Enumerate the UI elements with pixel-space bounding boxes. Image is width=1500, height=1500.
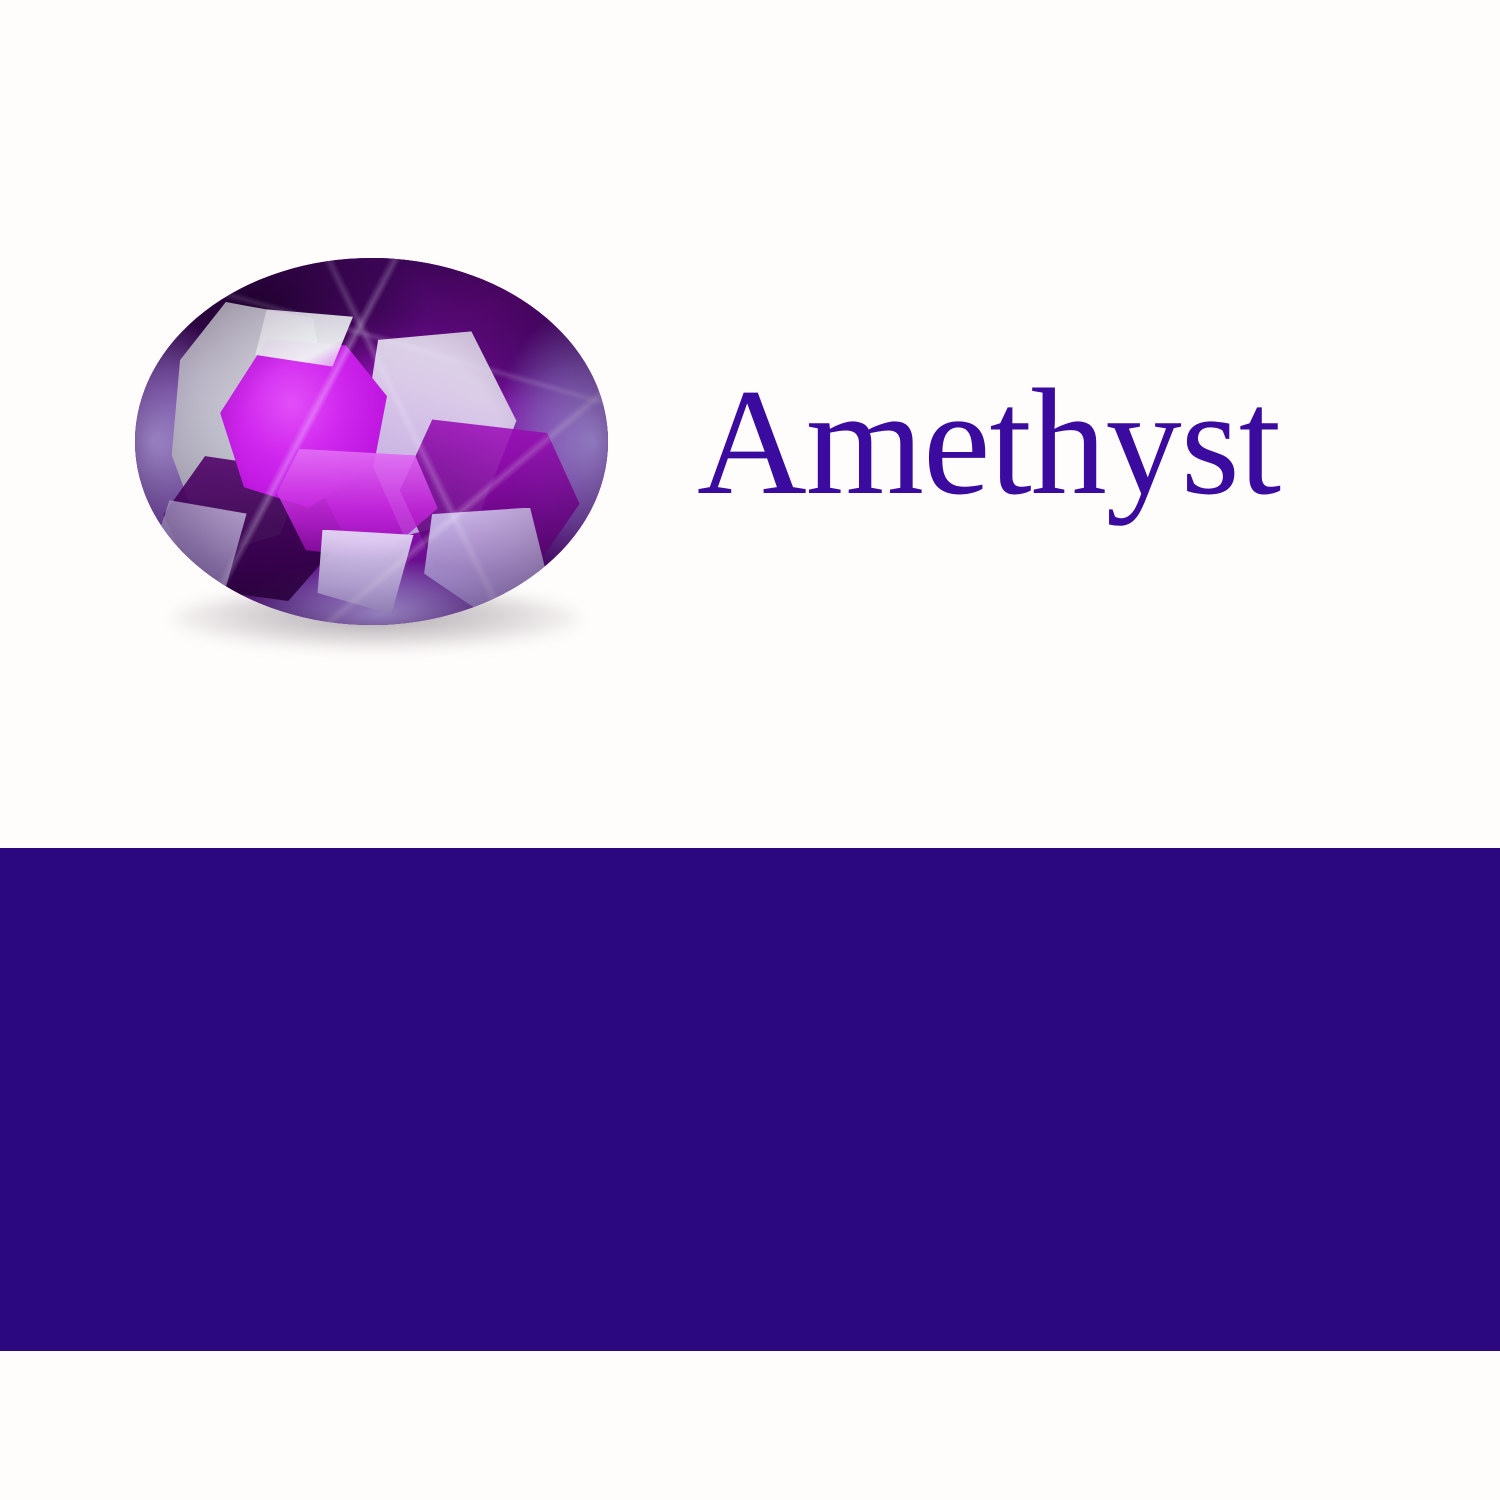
footer-whitespace	[0, 1351, 1500, 1500]
gem-vignette	[135, 258, 608, 625]
description-band: Amethyst is a known for its remarkable b…	[0, 848, 1500, 1351]
gemstone-info-card: Amethyst Amethyst is a known for its rem…	[0, 0, 1500, 1500]
page-title: Amethyst	[697, 366, 1457, 518]
hero-section: Amethyst	[0, 0, 1500, 848]
gemstone-figure	[135, 258, 610, 658]
amethyst-gemstone-image	[135, 258, 608, 625]
